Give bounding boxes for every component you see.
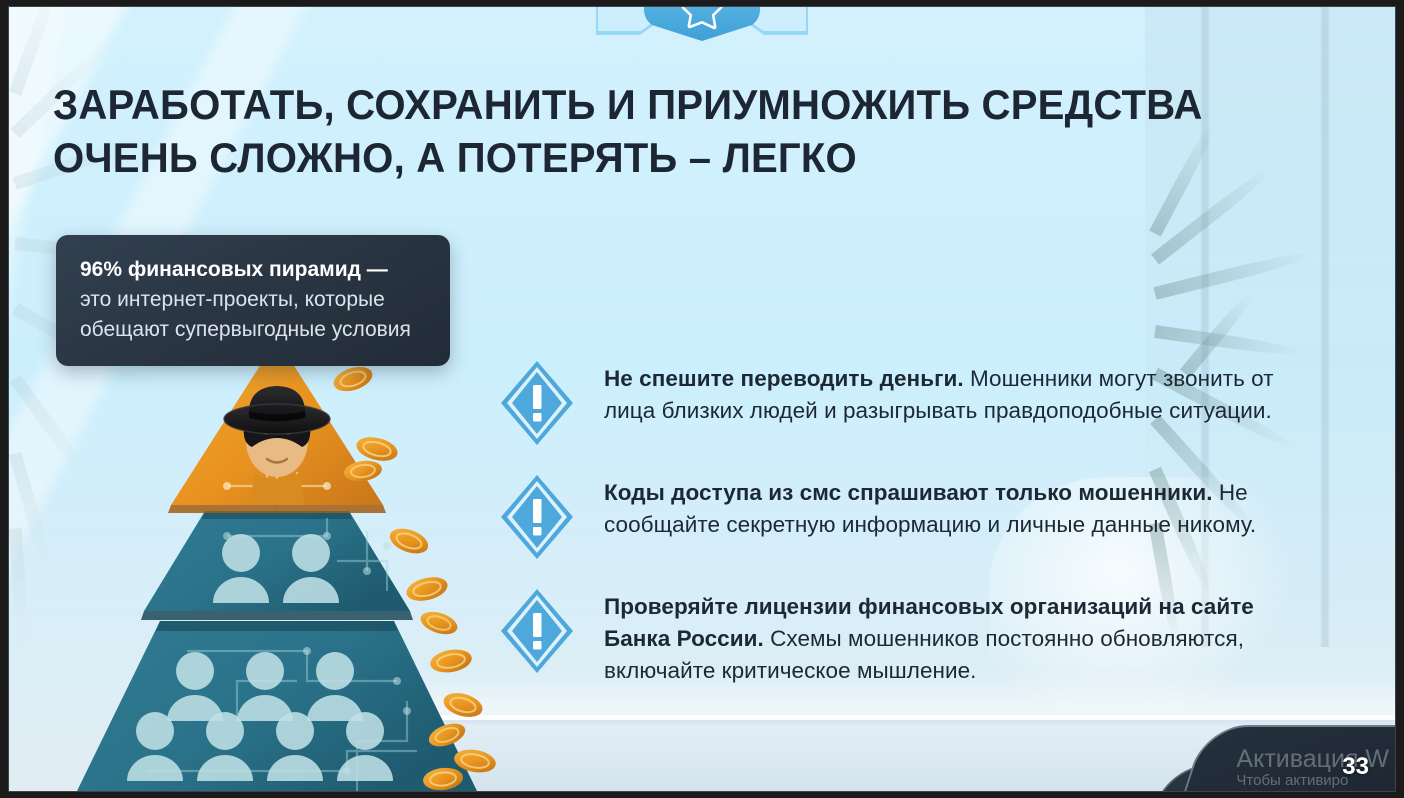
advice-text: Коды доступа из смс спрашивают только мо…: [604, 473, 1308, 541]
page-number: 33: [1342, 753, 1369, 781]
page-title: ЗАРАБОТАТЬ, СОХРАНИТЬ И ПРИУМНОЖИТЬ СРЕД…: [53, 79, 1266, 185]
ribbon-badge: [592, 7, 812, 43]
exclamation-diamond-icon: [498, 359, 576, 447]
statistic-callout: 96% финансовых пирамид — это интернет-пр…: [56, 235, 450, 366]
advice-list: Не спешите переводить деньги. Мошенники …: [498, 359, 1308, 687]
pyramid-people-row-3: [167, 652, 363, 721]
advice-item: Не спешите переводить деньги. Мошенники …: [498, 359, 1308, 447]
advice-text: Проверяйте лицензии финансовых организац…: [604, 587, 1308, 687]
callout-lead: 96% финансовых пирамид —: [80, 258, 388, 281]
pyramid-tier-bottom: [77, 621, 477, 791]
callout-body: это интернет-проекты, которые обещают су…: [80, 288, 411, 341]
screen-frame: ЗАРАБОТАТЬ, СОХРАНИТЬ И ПРИУМНОЖИТЬ СРЕД…: [0, 0, 1404, 798]
advice-bold: Коды доступа из смс спрашивают только мо…: [604, 480, 1213, 505]
advice-bold: Не спешите переводить деньги.: [604, 366, 964, 391]
pyramid-tier-middle: [141, 495, 413, 620]
exclamation-diamond-icon: [498, 587, 576, 675]
pyramid-illustration: [27, 321, 527, 791]
advice-item: Коды доступа из смс спрашивают только мо…: [498, 473, 1308, 561]
exclamation-diamond-icon: [498, 473, 576, 561]
advice-text: Не спешите переводить деньги. Мошенники …: [604, 359, 1308, 427]
presentation-slide: ЗАРАБОТАТЬ, СОХРАНИТЬ И ПРИУМНОЖИТЬ СРЕД…: [9, 7, 1395, 791]
advice-item: Проверяйте лицензии финансовых организац…: [498, 587, 1308, 687]
